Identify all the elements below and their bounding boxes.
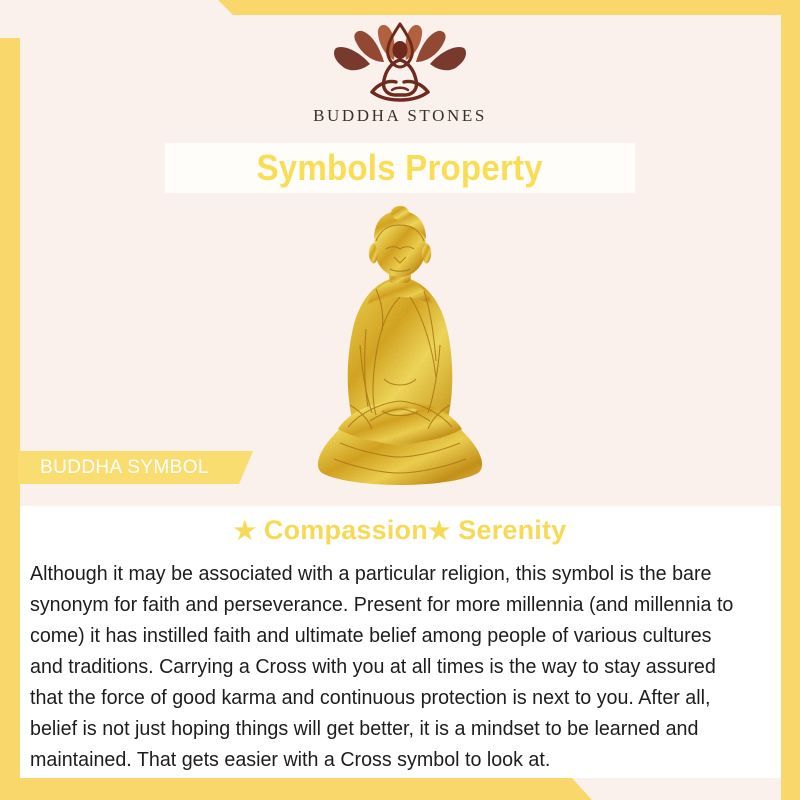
star-icon-1: ★ (234, 517, 257, 545)
description-paragraph: Although it may be associated with a par… (30, 558, 740, 775)
brand-name: BUDDHA STONES (313, 106, 487, 126)
attributes-headline: ★ Compassion★ Serenity (0, 515, 800, 546)
brand-logo: BUDDHA STONES (0, 22, 800, 126)
decorative-band-left (0, 38, 20, 800)
attribute-compassion: Compassion (264, 515, 428, 545)
ribbon-label: BUDDHA SYMBOL (40, 457, 209, 479)
attribute-serenity: Serenity (458, 515, 566, 545)
golden-seated-buddha-statue (310, 205, 490, 490)
title-plate: Symbols Property (165, 143, 635, 193)
page-title: Symbols Property (257, 147, 543, 189)
lotus-meditation-figure-icon (320, 22, 480, 104)
decorative-band-top (0, 0, 800, 15)
decorative-band-bottom (0, 778, 800, 800)
product-info-banner: BUDDHA STONES Symbols Property (0, 0, 800, 800)
section-ribbon: BUDDHA SYMBOL (18, 451, 253, 484)
star-icon-2: ★ (428, 517, 451, 545)
